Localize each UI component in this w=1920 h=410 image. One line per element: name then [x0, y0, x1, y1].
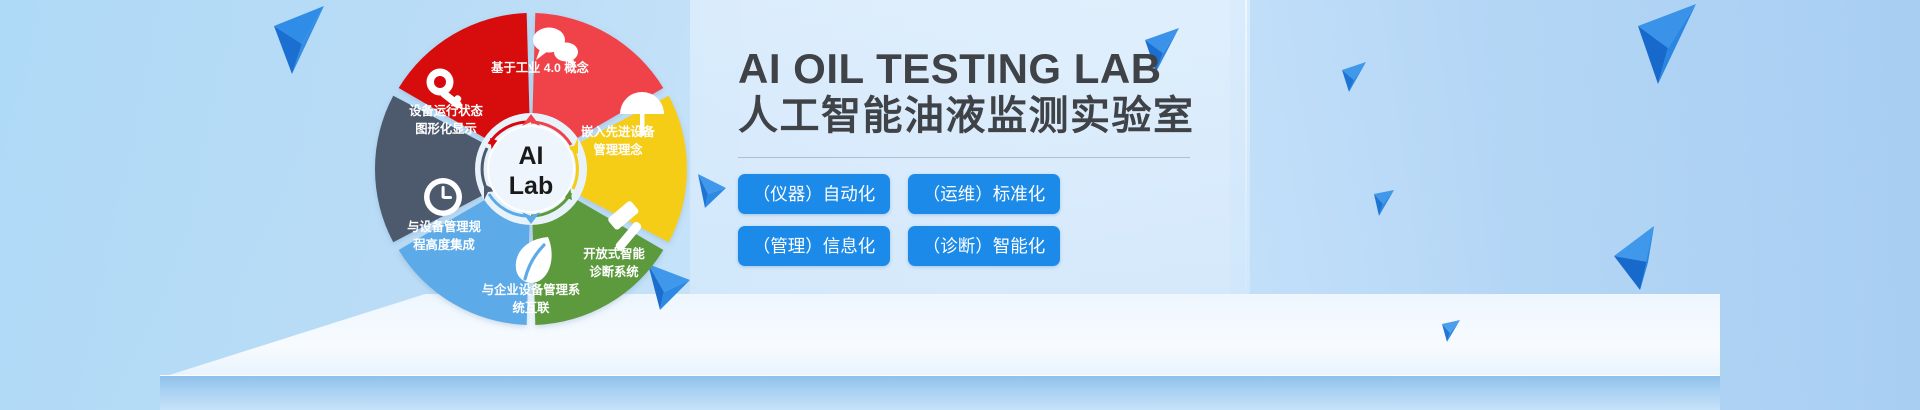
wheel-label-interconnect-line1: 与企业设备管理系 [482, 282, 580, 297]
page-title-cn: 人工智能油液监测实验室 [738, 93, 1438, 140]
tetrahedron-icon [272, 6, 338, 76]
wheel-label-integration-line1: 与设备管理规 [407, 219, 481, 234]
podium-face [160, 376, 1720, 410]
feature-pill-instrument[interactable]: （仪器）自动化 [738, 174, 890, 214]
wheel-label-embedded-line2: 管理理念 [593, 142, 643, 157]
page-title-en: AI OIL TESTING LAB [738, 46, 1438, 91]
wheel-center-line1: AI [519, 142, 544, 170]
feature-pill-diagnostic[interactable]: （诊断）智能化 [908, 226, 1060, 266]
feature-pill-grid: （仪器）自动化 （运维）标准化 （管理）信息化 （诊断）智能化 [738, 174, 1068, 266]
ai-lab-wheel-diagram: 基于工业 4.0 概念 嵌入先进设备 管理理念 开放式智能 诊断系统 与企业设备… [366, 4, 696, 334]
tetrahedron-icon [696, 170, 734, 210]
clock-icon [424, 178, 462, 216]
feature-pill-operation[interactable]: （运维）标准化 [908, 174, 1060, 214]
wheel-label-interconnect-line2: 统互联 [513, 300, 551, 315]
banner-root: 基于工业 4.0 概念 嵌入先进设备 管理理念 开放式智能 诊断系统 与企业设备… [0, 0, 1920, 410]
wheel-label-embedded-line1: 嵌入先进设备 [581, 124, 655, 139]
wheel-label-industry40-line1: 基于工业 4.0 概念 [490, 60, 589, 75]
wheel-label-visualize-line1: 设备运行状态 [409, 103, 483, 118]
tetrahedron-icon [1610, 222, 1680, 294]
title-divider [738, 157, 1190, 158]
wheel-label-diagnosis-line2: 诊断系统 [589, 264, 639, 279]
tetrahedron-icon [1440, 318, 1466, 344]
tetrahedron-icon [1634, 4, 1714, 86]
banner-content: AI OIL TESTING LAB 人工智能油液监测实验室 （仪器）自动化 （… [738, 46, 1438, 266]
wheel-label-visualize-line2: 图形化显示 [415, 121, 477, 136]
feature-pill-management[interactable]: （管理）信息化 [738, 226, 890, 266]
wheel-svg: 基于工业 4.0 概念 嵌入先进设备 管理理念 开放式智能 诊断系统 与企业设备… [366, 4, 696, 334]
wheel-label-diagnosis-line1: 开放式智能 [583, 246, 645, 261]
wheel-center-line2: Lab [509, 172, 553, 200]
wheel-label-integration-line2: 程高度集成 [413, 237, 475, 252]
